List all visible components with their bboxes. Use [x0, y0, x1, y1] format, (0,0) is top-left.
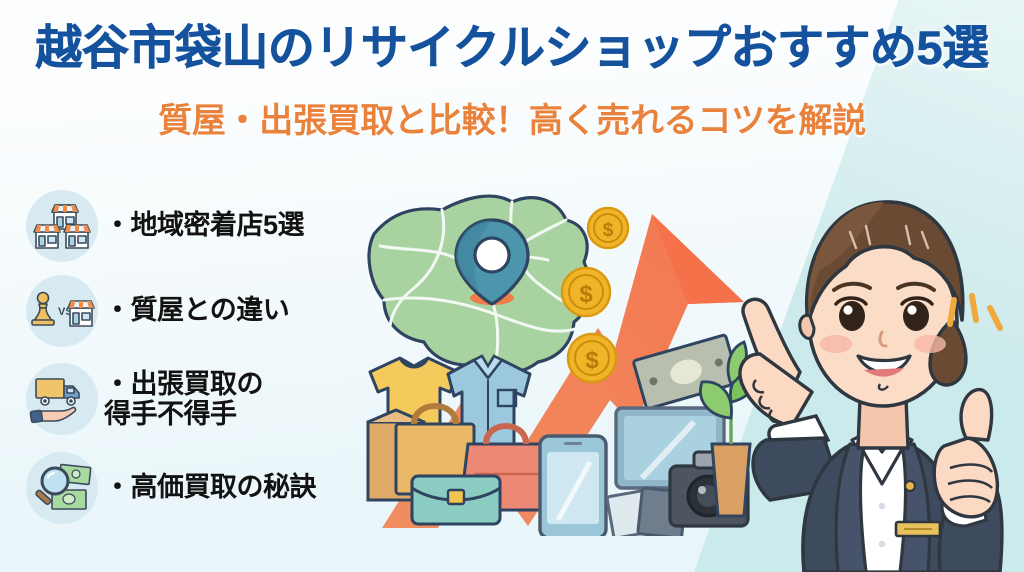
magnifier-money-icon [26, 452, 98, 524]
thumbs-up-arm [934, 390, 1002, 572]
svg-text:$: $ [603, 220, 614, 241]
list-item: ・出張買取の 得手不得手 [26, 353, 356, 445]
list-item-label: ・高価買取の秘訣 [104, 472, 316, 502]
list-item-label: ・出張買取の 得手不得手 [104, 369, 263, 429]
svg-text:$: $ [585, 347, 599, 374]
svg-text:$: $ [579, 281, 593, 308]
list-item: ・高価買取の秘訣 [26, 445, 356, 530]
three-shops-icon [26, 190, 98, 262]
list-item-label: ・地域密着店5選 [104, 210, 304, 240]
green-city-map [369, 196, 589, 373]
smiling-businesswoman [700, 140, 1024, 572]
truck-on-hand-icon [26, 363, 98, 435]
gold-coin: $ [588, 208, 628, 248]
teal-wallet [412, 476, 500, 524]
gold-coin: $ [568, 334, 616, 382]
list-item: VS ・質屋との違い [26, 268, 356, 353]
feature-bullet-list: ・地域密着店5選 VS [26, 183, 356, 530]
main-illustration: $ $ $ [352, 176, 752, 536]
list-item-label: ・質屋との違い [104, 295, 289, 325]
pawn-vs-shop-icon: VS [26, 275, 98, 347]
page-subtitle: 質屋・出張買取と比較！高く売れるコツを解説 [0, 104, 1024, 138]
head [800, 202, 966, 406]
banner-canvas: 越谷市袋山のリサイクルショップおすすめ5選 質屋・出張買取と比較！高く売れるコツ… [0, 0, 1024, 572]
page-title: 越谷市袋山のリサイクルショップおすすめ5選 [0, 24, 1024, 71]
list-item: ・地域密着店5選 [26, 183, 356, 268]
gold-coin: $ [562, 268, 610, 316]
smartphone [540, 436, 606, 536]
